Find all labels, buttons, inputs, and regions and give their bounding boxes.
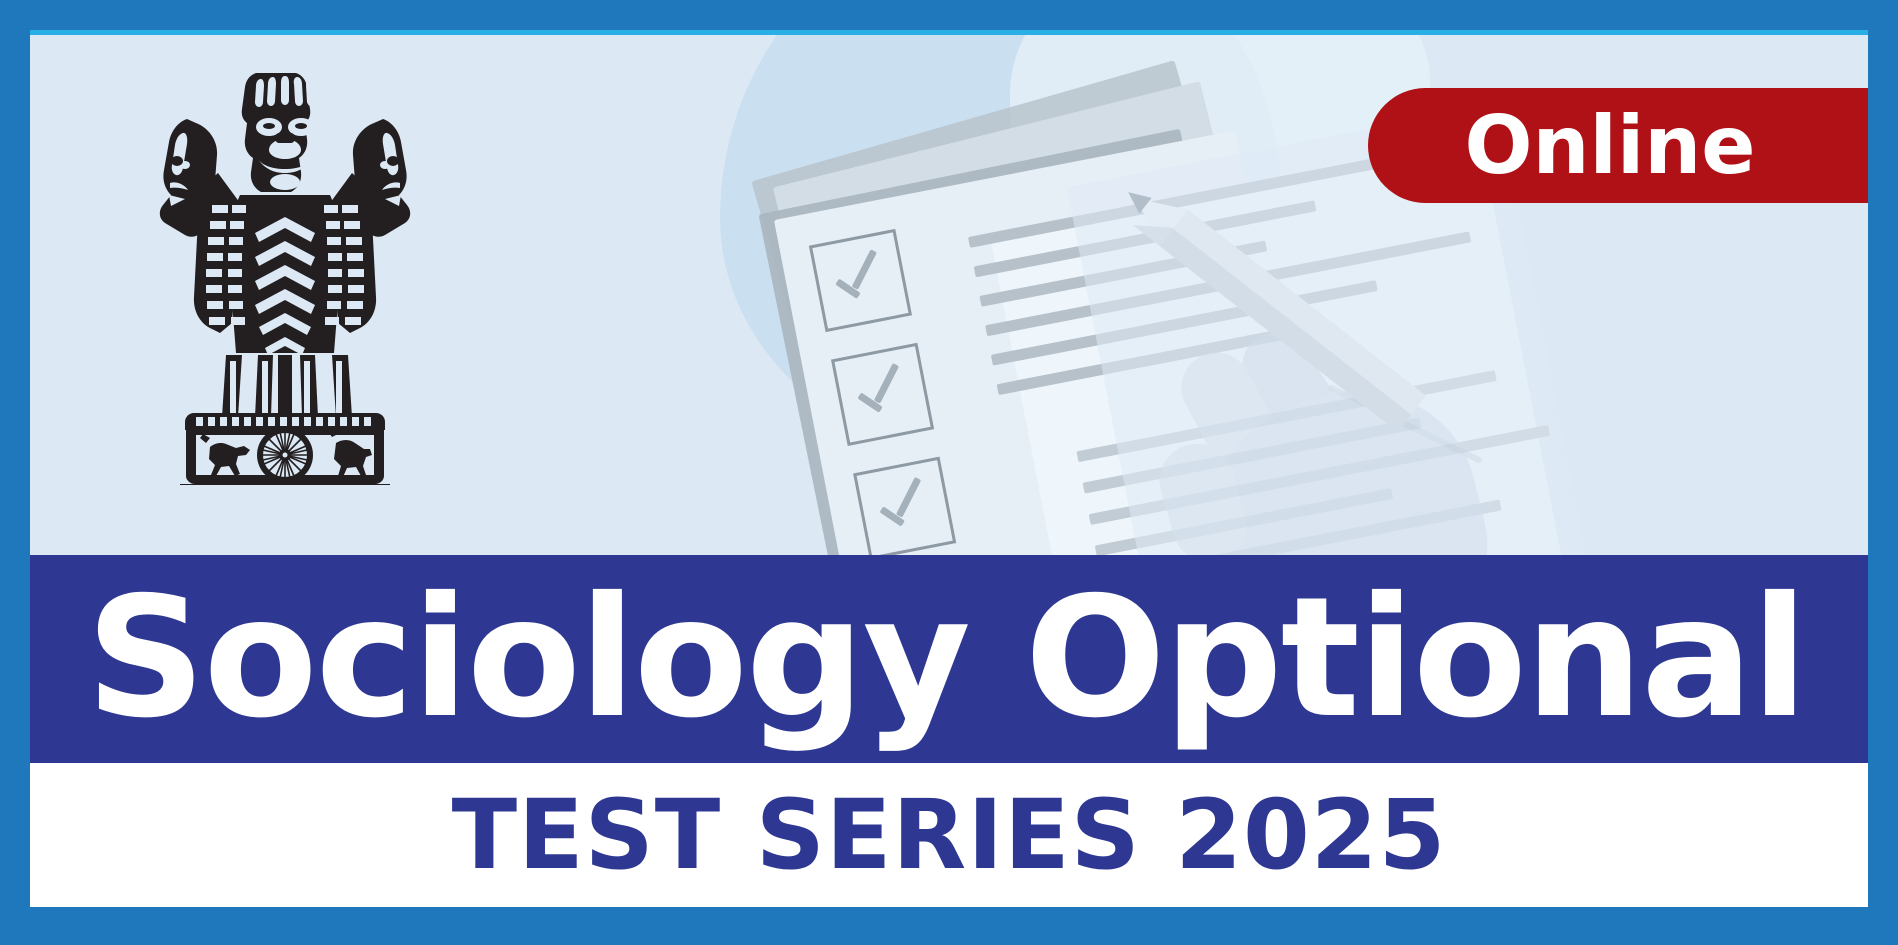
- top-cyan-accent-line: [30, 30, 1868, 35]
- title-band: Sociology Optional: [30, 555, 1868, 763]
- check-mark-icon: [853, 364, 916, 418]
- checkbox-item: [853, 457, 956, 555]
- page-title: Sociology Optional: [30, 576, 1806, 742]
- ashoka-lion-capital-emblem-icon: [140, 55, 430, 485]
- online-badge: Online: [1368, 88, 1868, 203]
- checkbox-item: [809, 229, 912, 332]
- test-series-promo-banner: Online Sociology Optional TEST SERIES 20…: [0, 0, 1898, 945]
- page-subtitle: TEST SERIES 2025: [452, 787, 1447, 883]
- banner-inner-canvas: Online Sociology Optional TEST SERIES 20…: [30, 30, 1868, 907]
- checkbox-item: [831, 343, 934, 446]
- check-mark-icon: [831, 250, 894, 304]
- subtitle-band: TEST SERIES 2025: [30, 763, 1868, 907]
- check-mark-icon: [875, 478, 938, 532]
- online-badge-label: Online: [1464, 106, 1801, 186]
